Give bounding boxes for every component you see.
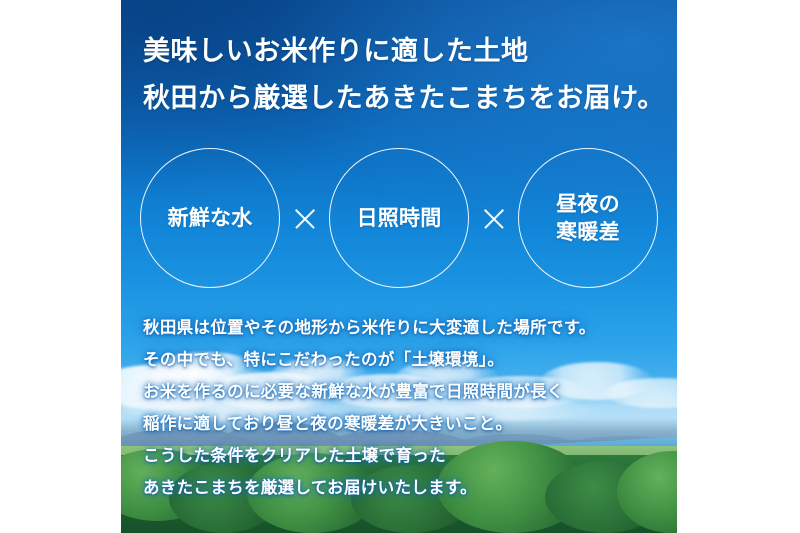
description-text: 秋田県は位置やその地形から米作りに大変適した場所です。 その中でも、特にこだわっ… [143,312,663,504]
description-line-2: その中でも、特にこだわったのが「土壌環境」。 [143,344,663,376]
rice-promo-banner: 美味しいお米作りに適した土地 秋田から厳選したあきたこまちをお届け。 新鮮な水 … [121,0,677,533]
factor-label-temperature-range: 昼夜の 寒暖差 [556,190,620,246]
factor-circle-sunshine-hours: 日照時間 [329,148,469,288]
description-line-3: お米を作るのに必要な新鮮な水が豊富で日照時間が長く [143,376,663,408]
description-line-6: あきたこまちを厳選してお届けいたします。 [143,472,663,504]
factor-circle-fresh-water: 新鮮な水 [140,148,280,288]
factor-label-fresh-water: 新鮮な水 [168,204,253,232]
screenshot-root: 美味しいお米作りに適した土地 秋田から厳選したあきたこまちをお届け。 新鮮な水 … [0,0,800,533]
description-line-4: 稲作に適しており昼と夜の寒暖差が大きいこと。 [143,408,663,440]
description-line-5: こうした条件をクリアした土壌で育った [143,440,663,472]
headline-line-1: 美味しいお米作りに適した土地 [143,28,663,75]
multiply-icon-2 [479,204,509,234]
headline-line-2: 秋田から厳選したあきたこまちをお届け。 [143,75,663,122]
factor-label-sunshine-hours: 日照時間 [357,204,442,232]
factor-circle-temperature-range: 昼夜の 寒暖差 [518,148,658,288]
description-line-1: 秋田県は位置やその地形から米作りに大変適した場所です。 [143,312,663,344]
multiply-icon-1 [290,204,320,234]
factor-circles: 新鮮な水 日照時間 昼夜の 寒暖差 [121,148,677,294]
page-title: 美味しいお米作りに適した土地 秋田から厳選したあきたこまちをお届け。 [143,28,663,122]
